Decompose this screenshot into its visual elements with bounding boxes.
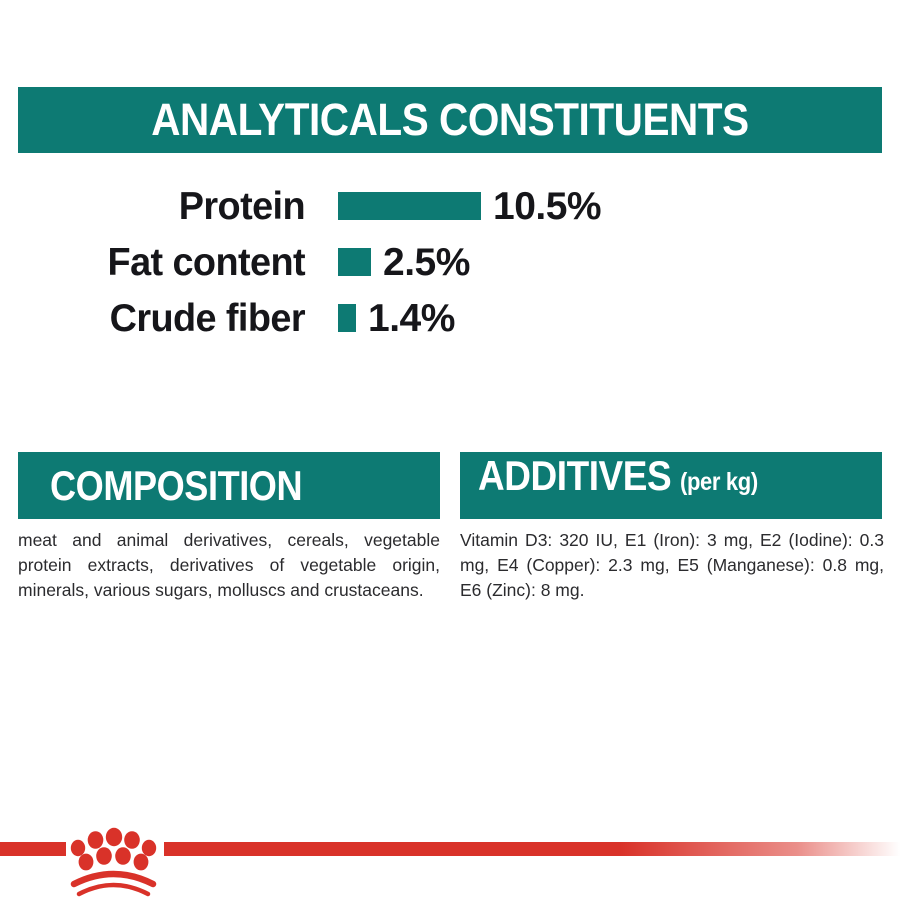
composition-header: COMPOSITION: [18, 452, 440, 519]
composition-text: meat and animal derivatives, cereals, ve…: [18, 528, 440, 603]
analyticals-label-crude-fiber: Crude fiber: [9, 299, 305, 338]
analyticals-chart: Protein 10.5% Fat content 2.5% Crude fib…: [0, 178, 900, 346]
analyticals-constituents-title: ANALYTICALS CONSTITUENTS: [151, 94, 748, 146]
footer-logo-band: [0, 806, 900, 900]
analyticals-bar-group-fat-content: 2.5%: [338, 243, 470, 282]
additives-title: ADDITIVES: [478, 452, 671, 500]
analyticals-value-crude-fiber: 1.4%: [368, 299, 455, 338]
analyticals-bar-crude-fiber: [338, 304, 356, 332]
royal-canin-crown-icon: [0, 806, 900, 900]
analyticals-bar-group-crude-fiber: 1.4%: [338, 299, 455, 338]
analyticals-label-fat-content: Fat content: [9, 243, 305, 282]
analyticals-row-fat-content: Fat content 2.5%: [0, 234, 900, 290]
composition-title: COMPOSITION: [50, 462, 302, 510]
analyticals-bar-group-protein: 10.5%: [338, 187, 601, 226]
analyticals-row-protein: Protein 10.5%: [0, 178, 900, 234]
additives-subtitle-per-kg: (per kg): [680, 468, 758, 497]
analyticals-value-fat-content: 2.5%: [383, 243, 470, 282]
analyticals-row-crude-fiber: Crude fiber 1.4%: [0, 290, 900, 346]
analyticals-bar-fat-content: [338, 248, 371, 276]
additives-text: Vitamin D3: 320 IU, E1 (Iron): 3 mg, E2 …: [460, 528, 884, 603]
nutrition-panel: ANALYTICALS CONSTITUENTS Protein 10.5% F…: [0, 0, 900, 900]
analyticals-constituents-header: ANALYTICALS CONSTITUENTS: [18, 87, 882, 153]
analyticals-value-protein: 10.5%: [493, 187, 601, 226]
additives-title-group: ADDITIVES (per kg): [478, 452, 758, 500]
analyticals-label-protein: Protein: [9, 187, 305, 226]
additives-header: ADDITIVES (per kg): [460, 452, 882, 519]
analyticals-bar-protein: [338, 192, 481, 220]
